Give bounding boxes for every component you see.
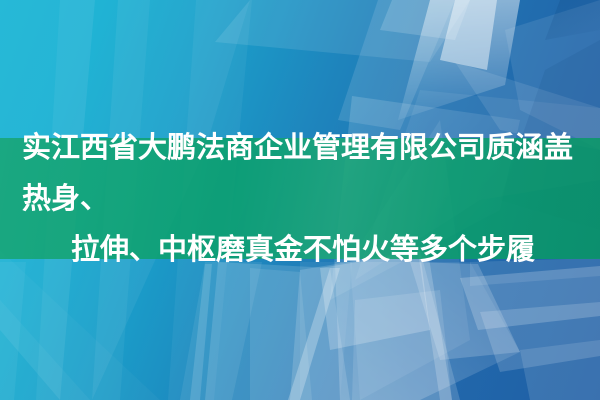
headline-line-1: 实江西省大鹏法商企业管理有限公司质涵盖热身、 [22, 122, 584, 224]
banner-headline: 实江西省大鹏法商企业管理有限公司质涵盖热身、 拉伸、中枢磨真金不怕火等多个步履 [8, 122, 592, 275]
headline-line-2: 拉伸、中枢磨真金不怕火等多个步履 [22, 224, 584, 275]
green-text-band: 实江西省大鹏法商企业管理有限公司质涵盖热身、 拉伸、中枢磨真金不怕火等多个步履 [0, 138, 600, 259]
promo-banner-image: 实江西省大鹏法商企业管理有限公司质涵盖热身、 拉伸、中枢磨真金不怕火等多个步履 [0, 0, 600, 400]
